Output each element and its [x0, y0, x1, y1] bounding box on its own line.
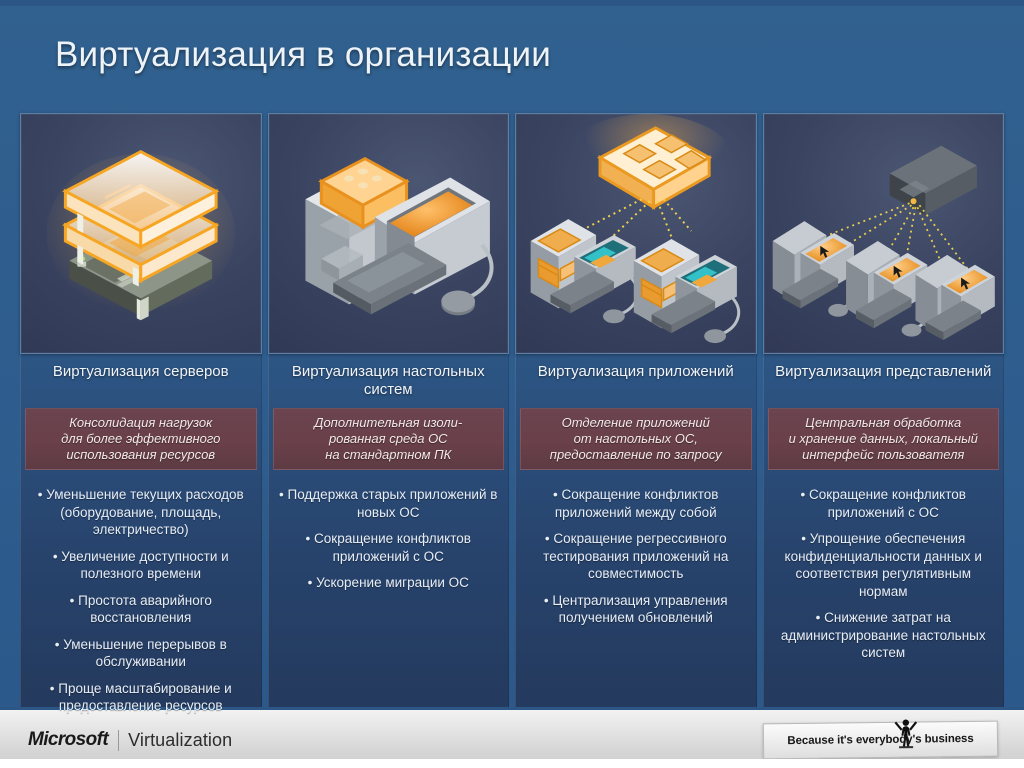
- banner-text-desktop: Дополнительная изоли- рованная среда ОС …: [314, 415, 462, 463]
- banner-text-server: Консолидация нагрузок для более эффектив…: [61, 415, 220, 463]
- list-item: • Сокращение конфликтов приложений с ОС: [278, 530, 500, 565]
- bullet-list-server: • Уменьшение текущих расходов (оборудова…: [20, 470, 262, 724]
- list-item: • Снижение затрат на администрирование н…: [773, 609, 995, 662]
- list-item: • Сокращение регрессивного тестирования …: [525, 530, 747, 583]
- server-virtualization-illustration: [21, 114, 261, 353]
- page-title: Виртуализация в организации: [55, 35, 551, 75]
- microsoft-virtualization-logo: Microsoft Virtualization: [28, 729, 232, 751]
- presentation-virtualization-illustration: [764, 114, 1004, 353]
- banner-application: Отделение приложений от настольных ОС, п…: [520, 408, 752, 470]
- list-item: • Ускорение миграции ОС: [278, 574, 500, 592]
- banner-text-presentation: Центральная обработка и хранение данных,…: [789, 415, 978, 463]
- status-badge: Because it's everybody's business: [763, 721, 998, 760]
- badge-text: Because it's everybody's business: [787, 733, 973, 747]
- column-application-virtualization: Виртуализация приложений Отделение прило…: [515, 113, 757, 724]
- column-presentation-virtualization: Виртуализация представлений Центральная …: [763, 113, 1005, 724]
- list-item: • Проще масштабирование и предоставление…: [30, 680, 252, 715]
- application-virtualization-illustration: [516, 114, 756, 353]
- image-panel-application-virtualization: [515, 113, 757, 354]
- list-item: • Сокращение конфликтов приложений с ОС: [773, 486, 995, 521]
- column-heading-application: Виртуализация приложений: [515, 354, 757, 408]
- logo-divider: [118, 730, 119, 751]
- banner-desktop: Дополнительная изоли- рованная среда ОС …: [273, 408, 505, 470]
- list-item: • Уменьшение текущих расходов (оборудова…: [30, 486, 252, 539]
- desktop-virtualization-illustration: [269, 114, 509, 353]
- column-heading-presentation: Виртуализация представлений: [763, 354, 1005, 408]
- column-server-virtualization: Виртуализация серверов Консолидация нагр…: [20, 113, 262, 724]
- banner-presentation: Центральная обработка и хранение данных,…: [768, 408, 1000, 470]
- slide: Виртуализация в организации: [0, 0, 1024, 768]
- microsoft-wordmark: Microsoft: [28, 729, 108, 751]
- list-item: • Уменьшение перерывов в обслуживании: [30, 636, 252, 671]
- image-panel-server-virtualization: [20, 113, 262, 354]
- bullet-list-desktop: • Поддержка старых приложений в новых ОС…: [268, 470, 510, 601]
- image-panel-presentation-virtualization: [763, 113, 1005, 354]
- title-bar: Виртуализация в организации: [55, 24, 955, 86]
- column-heading-desktop: Виртуализация настольных систем: [268, 354, 510, 408]
- banner-text-application: Отделение приложений от настольных ОС, п…: [550, 415, 722, 463]
- bullet-list-application: • Сокращение конфликтов приложений между…: [515, 470, 757, 636]
- list-item: • Простота аварийного восстановления: [30, 592, 252, 627]
- list-item: • Централизация управления получением об…: [525, 592, 747, 627]
- banner-server: Консолидация нагрузок для более эффектив…: [25, 408, 257, 470]
- list-item: • Сокращение конфликтов приложений между…: [525, 486, 747, 521]
- list-item: • Поддержка старых приложений в новых ОС: [278, 486, 500, 521]
- image-panel-desktop-virtualization: [268, 113, 510, 354]
- bullet-list-presentation: • Сокращение конфликтов приложений с ОС …: [763, 470, 1005, 671]
- column-grid: Виртуализация серверов Консолидация нагр…: [20, 113, 1004, 703]
- column-desktop-virtualization: Виртуализация настольных систем Дополнит…: [268, 113, 510, 724]
- column-heading-server: Виртуализация серверов: [20, 354, 262, 408]
- list-item: • Упрощение обеспечения конфиденциальнос…: [773, 530, 995, 600]
- product-name: Virtualization: [128, 730, 232, 751]
- list-item: • Увеличение доступности и полезного вре…: [30, 548, 252, 583]
